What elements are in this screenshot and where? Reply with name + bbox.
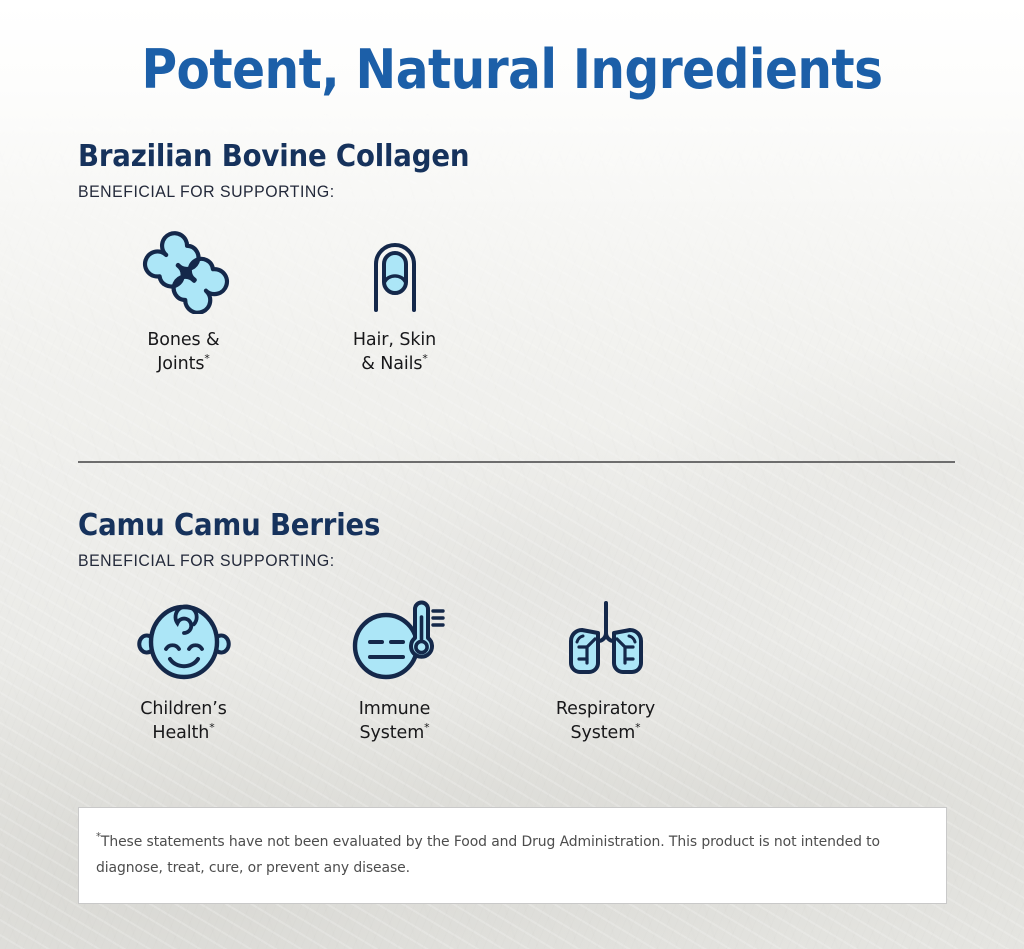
sick-face-thermometer-icon — [341, 597, 449, 683]
footnote-marker: * — [204, 353, 209, 366]
benefit-label: Hair, Skin & Nails* — [353, 328, 436, 378]
benefit-item-bones-joints: Bones & Joints* — [78, 228, 289, 378]
benefit-label-line2: Joints — [157, 354, 204, 374]
beneficial-for-supporting-label: BENEFICIAL FOR SUPPORTING: — [78, 183, 919, 202]
benefit-icon-wrap — [136, 228, 232, 314]
benefit-icon-wrap — [130, 597, 238, 683]
benefit-label-line2: & Nails — [361, 354, 422, 374]
benefit-label-line2: Health — [152, 723, 209, 743]
footnote-marker: * — [209, 722, 214, 735]
ingredient-heading: Brazilian Bovine Collagen — [78, 140, 884, 174]
benefit-icon-wrap — [554, 597, 658, 683]
ingredient-heading: Camu Camu Berries — [78, 509, 884, 543]
page-content: Potent, Natural Ingredients Brazilian Bo… — [0, 0, 1024, 949]
benefit-label-line1: Immune — [359, 699, 431, 719]
benefit-label-line2: System — [359, 723, 424, 743]
disclaimer-box: *These statements have not been evaluate… — [78, 807, 947, 904]
ingredient-section-camu-camu: Camu Camu Berries BENEFICIAL FOR SUPPORT… — [78, 509, 954, 746]
benefit-label-line1: Bones & — [147, 330, 219, 350]
benefit-item-childrens-health: Children’s Health* — [78, 597, 289, 747]
benefit-label-line1: Children’s — [140, 699, 227, 719]
benefit-icon-wrap — [347, 228, 443, 314]
benefit-label-line1: Hair, Skin — [353, 330, 436, 350]
benefit-list: Bones & Joints* Hair, — [78, 228, 954, 378]
bone-icon — [136, 228, 232, 314]
beneficial-for-supporting-label: BENEFICIAL FOR SUPPORTING: — [78, 552, 919, 571]
fingernail-icon — [347, 228, 443, 314]
benefit-list: Children’s Health* — [78, 597, 954, 747]
page-title: Potent, Natural Ingredients — [51, 42, 973, 99]
benefit-label: Bones & Joints* — [147, 328, 219, 378]
benefit-icon-wrap — [341, 597, 449, 683]
ingredient-section-collagen: Brazilian Bovine Collagen BENEFICIAL FOR… — [78, 140, 954, 377]
baby-face-icon — [130, 597, 238, 683]
benefit-item-respiratory-system: Respiratory System* — [500, 597, 711, 747]
lungs-icon — [554, 597, 658, 683]
benefit-label: Children’s Health* — [140, 697, 227, 747]
disclaimer-text: *These statements have not been evaluate… — [96, 829, 889, 881]
benefit-item-immune-system: Immune System* — [289, 597, 500, 747]
benefit-label-line1: Respiratory — [556, 699, 655, 719]
footnote-marker: * — [424, 722, 429, 735]
benefit-label: Immune System* — [359, 697, 431, 747]
footnote-marker: * — [635, 722, 640, 735]
benefit-label-line2: System — [570, 723, 635, 743]
disclaimer-body: These statements have not been evaluated… — [96, 833, 880, 876]
section-divider — [78, 461, 955, 463]
benefit-label: Respiratory System* — [556, 697, 655, 747]
benefit-item-hair-skin-nails: Hair, Skin & Nails* — [289, 228, 500, 378]
footnote-marker: * — [422, 353, 427, 366]
